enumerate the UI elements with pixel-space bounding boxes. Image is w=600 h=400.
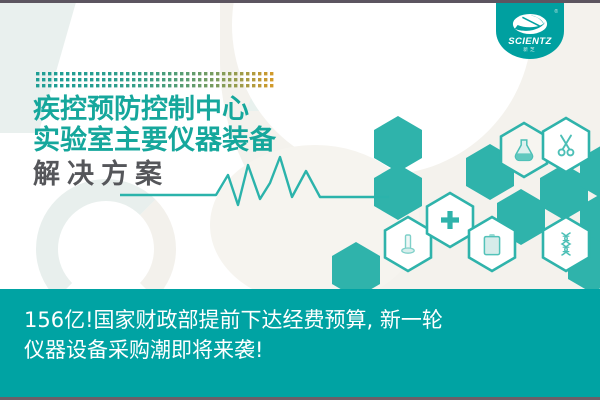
- logo-chinese-name: 新芝: [523, 48, 537, 53]
- headline-block: 疾控预防控制中心 实验室主要仪器装备 解决方案: [33, 95, 276, 191]
- logo-badge-shape: ® SCIENTZ 新芝: [496, 3, 564, 59]
- brand-logo: ® SCIENTZ 新芝: [496, 3, 564, 59]
- banner-line-1: 156亿!国家财政部提前下达经费预算, 新一轮: [24, 306, 576, 336]
- dotted-square-grid: [36, 71, 276, 96]
- hexagon-icon-scissors: [540, 116, 592, 174]
- logo-wordmark: SCIENTZ: [508, 37, 551, 47]
- headline-line-3: 解决方案: [33, 160, 276, 191]
- headline-line-2: 实验室主要仪器装备: [33, 126, 276, 157]
- hexagon-icon-clipboard: [466, 215, 518, 273]
- trademark-icon: ®: [554, 9, 558, 15]
- banner-line-2: 仪器设备采购潮即将来袭!: [24, 336, 576, 366]
- hexagon-icon-dna-helix: [540, 215, 592, 273]
- headline-line-1: 疾控预防控制中心: [33, 95, 276, 126]
- scissors-icon: [540, 116, 592, 174]
- clipboard-icon: [466, 215, 518, 273]
- bottom-banner: 156亿!国家财政部提前下达经费预算, 新一轮 仪器设备采购潮即将来袭!: [0, 289, 600, 397]
- scientz-swoosh-emblem: [511, 12, 549, 36]
- dna-helix-icon: [540, 215, 592, 273]
- poster-root: 疾控预防控制中心 实验室主要仪器装备 解决方案 ® SCIENTZ 新芝 156…: [0, 0, 600, 400]
